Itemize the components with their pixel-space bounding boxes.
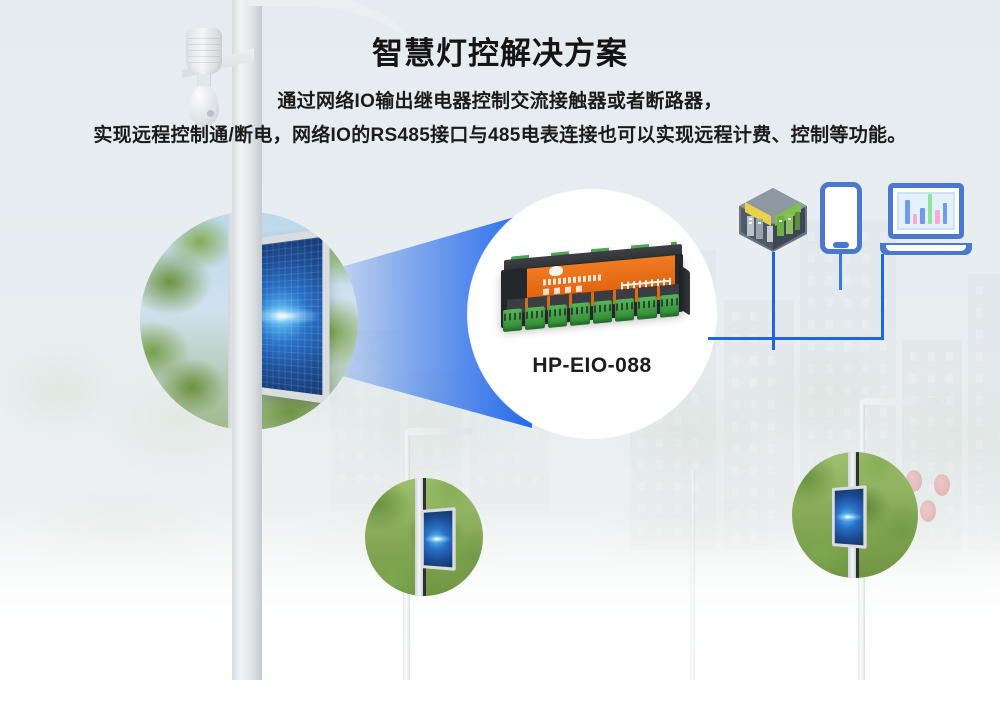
connector-line-vertical-phone [839, 254, 842, 290]
page-title: 智慧灯控解决方案 [0, 28, 1000, 73]
chart-bar [935, 210, 940, 224]
infographic-page: HP-EIO-088 [0, 0, 1000, 701]
laptop-screen-chart [897, 192, 955, 230]
server-room-svg [737, 186, 809, 254]
lamp-closeup-circle-right [792, 452, 918, 578]
lantern-decor-3 [920, 500, 936, 522]
laptop-base [880, 243, 972, 255]
laptop-lid [888, 183, 964, 239]
lamp-head-distant-1 [406, 428, 472, 435]
lantern-decor-2 [934, 474, 950, 496]
server-room-icon [737, 186, 809, 254]
chart-bar [913, 214, 918, 224]
lamp-head-distant-2 [862, 398, 940, 405]
laptop-chart-icon [880, 183, 972, 255]
lamp-display-panel-small-2 [832, 485, 867, 549]
chart-bar [920, 208, 925, 224]
connector-line-vertical-laptop [881, 254, 884, 340]
lamp-closeup-circle-left [365, 478, 483, 596]
lamp-display-panel-small [421, 507, 456, 571]
chart-bar [928, 194, 933, 224]
chart-bar [905, 200, 910, 224]
connector-line-vertical-server [772, 252, 775, 350]
smartphone-icon [820, 182, 862, 254]
connector-line-horizontal [708, 337, 884, 340]
device-side-panel [679, 264, 690, 315]
phone-home-button-icon [833, 242, 849, 248]
subtitle-line-2: 实现远程控制通/断电，网络IO的RS485接口与485电表连接也可以实现远程计费… [0, 120, 1000, 147]
street-pole-distant-3 [690, 470, 695, 680]
subtitle-line-1: 通过网络IO输出继电器控制交流接触器或者断路器， [0, 86, 1000, 113]
device-hp-eio-088 [497, 252, 693, 338]
device-model-label: HP-EIO-088 [468, 354, 716, 378]
chart-bar [943, 203, 948, 224]
